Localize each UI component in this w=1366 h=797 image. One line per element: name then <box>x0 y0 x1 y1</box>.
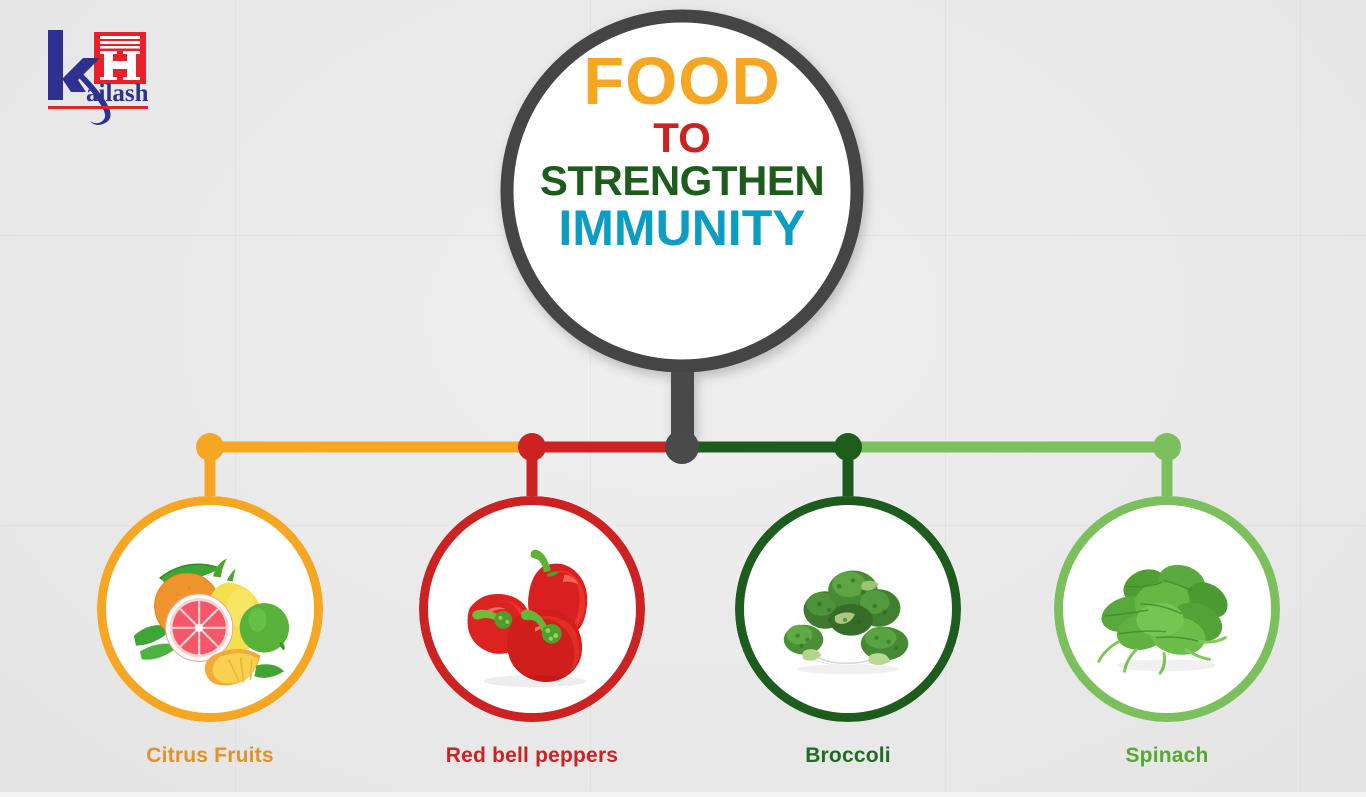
broccoli-ring <box>735 496 961 722</box>
broccoli-label: Broccoli <box>733 744 963 768</box>
spinach-dot <box>1153 433 1181 461</box>
spinach-label: Spinach <box>1052 744 1282 768</box>
peppers-ring <box>419 496 645 722</box>
title-line-immunity: IMMUNITY <box>497 203 867 253</box>
peppers-circle[interactable] <box>419 496 645 722</box>
pepper-dot <box>518 433 546 461</box>
kailash-logo[interactable]: ailash <box>34 24 162 130</box>
citrus-label: Citrus Fruits <box>95 744 325 768</box>
item-citrus[interactable]: Citrus Fruits <box>95 496 325 768</box>
hub-dot <box>665 430 699 464</box>
broccoli-circle[interactable] <box>735 496 961 722</box>
title-line-strengthen: STRENGTHEN <box>497 160 867 202</box>
title-line-to: TO <box>497 117 867 159</box>
citrus-ring <box>97 496 323 722</box>
spinach-circle[interactable] <box>1054 496 1280 722</box>
title-block: FOOD TO STRENGTHEN IMMUNITY <box>497 48 867 253</box>
spinach-ring <box>1054 496 1280 722</box>
broccoli-dot <box>834 433 862 461</box>
item-peppers[interactable]: Red bell peppers <box>417 496 647 768</box>
kailash-logo-icon: ailash <box>34 24 162 130</box>
item-broccoli[interactable]: Broccoli <box>733 496 963 768</box>
citrus-circle[interactable] <box>97 496 323 722</box>
item-spinach[interactable]: Spinach <box>1052 496 1282 768</box>
logo-wordmark: ailash <box>86 80 149 107</box>
title-line-food: FOOD <box>497 48 867 115</box>
peppers-label: Red bell peppers <box>417 744 647 768</box>
citrus-dot <box>196 433 224 461</box>
